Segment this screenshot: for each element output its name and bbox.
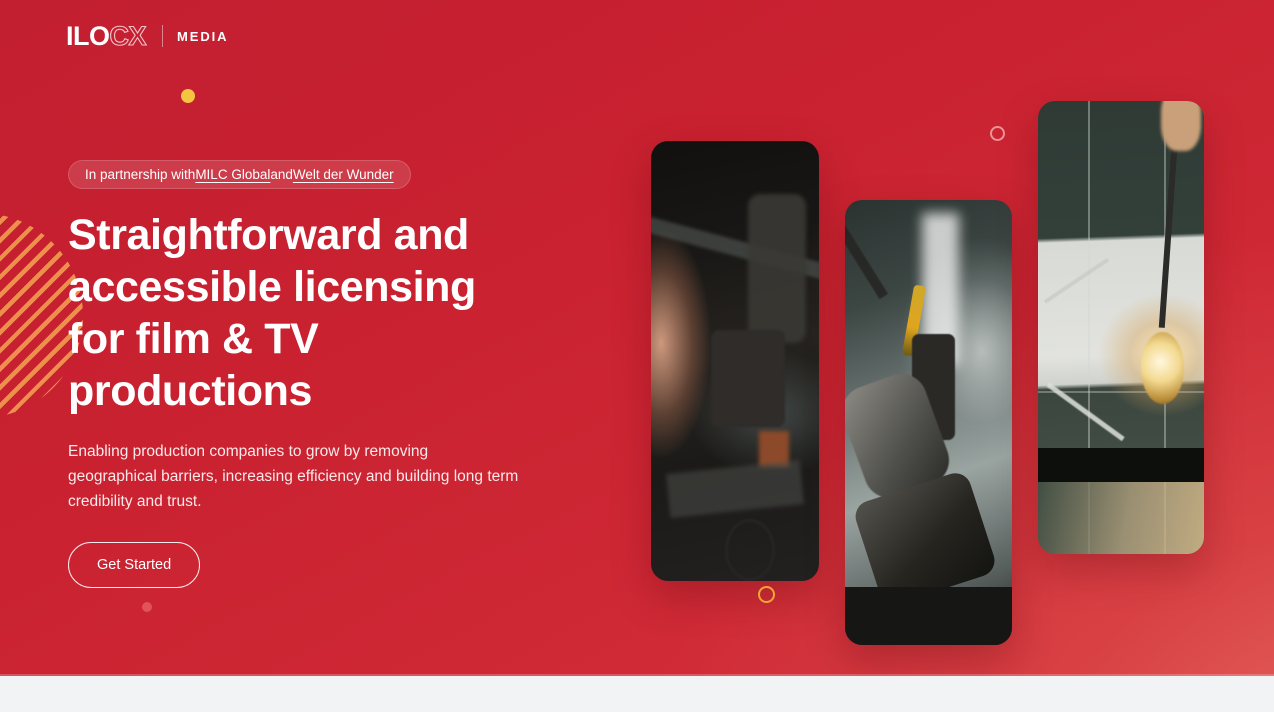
decor-shape <box>1161 101 1201 151</box>
decor-shape <box>845 209 888 299</box>
yellow-dot-icon <box>181 89 195 103</box>
badge-prefix: In partnership with <box>85 167 195 182</box>
badge-middle: and <box>270 167 293 182</box>
decor-shape <box>748 194 805 344</box>
badge-link-milc-global[interactable]: MILC Global <box>195 167 270 182</box>
media-card-image-1 <box>651 141 819 581</box>
decor-shape <box>711 330 785 427</box>
decor-shape <box>725 519 775 581</box>
partnership-badge: In partnership with MILC Global and Welt… <box>68 160 411 189</box>
soft-red-dot-icon <box>142 602 152 612</box>
hero-section: ILO CX MEDIA In partnership with MILC Gl… <box>0 0 1274 676</box>
logo-text-primary: ILO <box>66 23 110 50</box>
logo-divider <box>162 25 163 47</box>
decor-shape <box>1044 258 1110 304</box>
badge-link-welt-der-wunder[interactable]: Welt der Wunder <box>293 167 394 182</box>
media-card-image-2 <box>845 200 1012 645</box>
logo-text-outlined: CX <box>110 23 147 50</box>
media-card-image-3 <box>1038 101 1204 554</box>
media-card-camera-rig[interactable] <box>845 200 1012 645</box>
decor-shape <box>666 460 804 518</box>
hero-subcopy: Enabling production companies to grow by… <box>68 439 520 514</box>
yellow-ring-icon <box>758 586 775 603</box>
decor-shape <box>1141 332 1184 404</box>
pink-ring-icon <box>990 126 1005 141</box>
media-card-camera-operator[interactable] <box>651 141 819 581</box>
logo-suffix: MEDIA <box>177 29 228 44</box>
media-card-studio-lamp[interactable] <box>1038 101 1204 554</box>
hero-headline: Straightforward and accessible licensing… <box>68 209 538 417</box>
page-root: ILO CX MEDIA In partnership with MILC Gl… <box>0 0 1274 712</box>
hero-copy-column: In partnership with MILC Global and Welt… <box>68 160 588 588</box>
decor-shape <box>845 587 1012 645</box>
page-lower-band <box>0 676 1274 712</box>
decor-shape <box>1038 448 1204 482</box>
get-started-button[interactable]: Get Started <box>68 542 200 588</box>
brand-logo[interactable]: ILO CX MEDIA <box>66 20 228 52</box>
